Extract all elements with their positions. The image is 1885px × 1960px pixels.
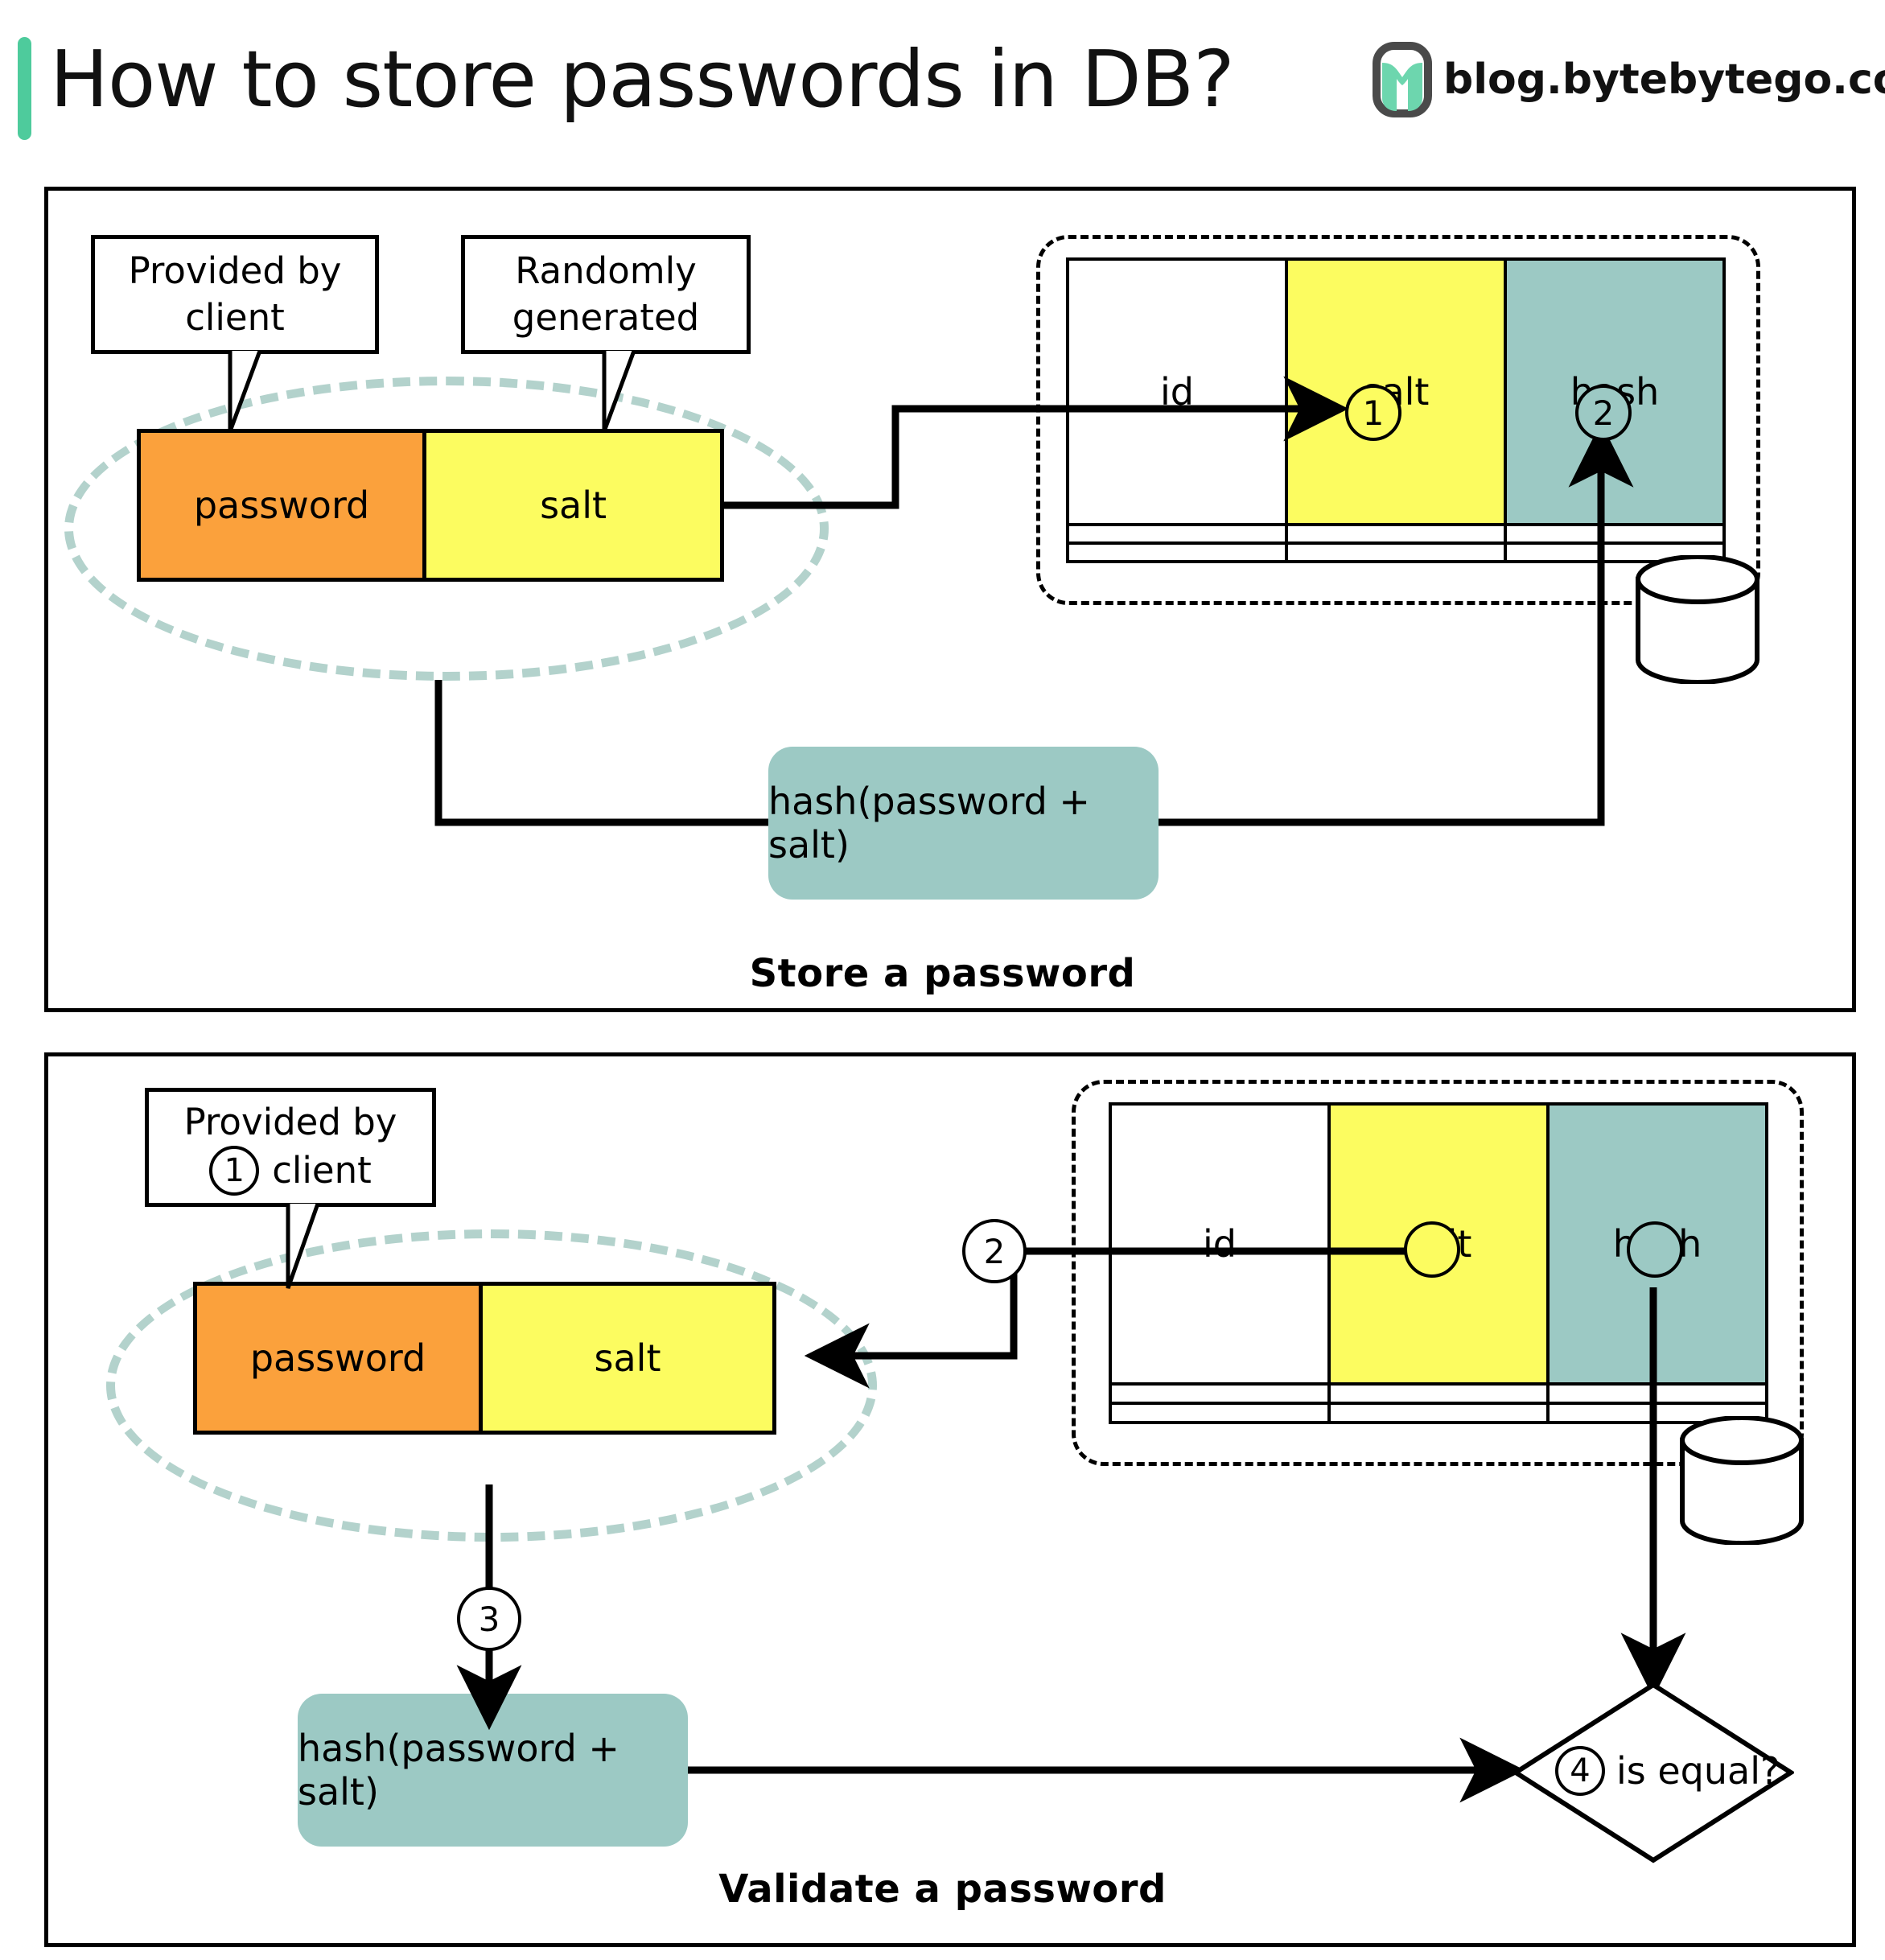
salt-cell: salt bbox=[422, 433, 720, 578]
table-row bbox=[1068, 525, 1724, 543]
callout-randomly-generated: Randomly generated bbox=[461, 235, 751, 354]
table-header-row: id salt hash bbox=[1068, 259, 1724, 525]
callout-provided-by-client: Provided by client bbox=[91, 235, 379, 354]
step-marker-2-validate: 2 bbox=[962, 1219, 1027, 1283]
salt-cell: salt bbox=[479, 1286, 772, 1431]
step-badge-4: 4 bbox=[1555, 1746, 1605, 1796]
decision-question: is equal? bbox=[1616, 1749, 1780, 1793]
decision-label: 4 is equal? bbox=[1555, 1746, 1780, 1796]
cell-hash bbox=[1505, 525, 1724, 543]
cell-salt bbox=[1286, 543, 1505, 562]
table-header-id: id bbox=[1068, 259, 1286, 525]
table-row bbox=[1068, 543, 1724, 562]
hash-function-box-store: hash(password + salt) bbox=[768, 747, 1159, 900]
table-row bbox=[1110, 1384, 1767, 1403]
cell-id bbox=[1068, 525, 1286, 543]
cell-salt bbox=[1329, 1384, 1548, 1403]
step-badge-1: 1 bbox=[209, 1146, 259, 1196]
password-salt-bar-validate: password salt bbox=[193, 1282, 776, 1435]
cell-id bbox=[1110, 1403, 1329, 1423]
bytebytego-logo-icon bbox=[1373, 42, 1432, 117]
table-row bbox=[1110, 1403, 1767, 1423]
step-marker-1-salt: 1 bbox=[1345, 385, 1401, 441]
page-title: How to store passwords in DB? bbox=[50, 27, 1234, 132]
cell-salt bbox=[1329, 1403, 1548, 1423]
accent-bar bbox=[18, 37, 31, 140]
cell-id bbox=[1110, 1384, 1329, 1403]
step-marker-2-hash: 2 bbox=[1575, 385, 1632, 441]
diagram-page: How to store passwords in DB? blog.byteb… bbox=[0, 0, 1885, 1960]
callout-text: Provided by 1 client bbox=[184, 1099, 397, 1196]
db-cylinder-validate bbox=[1677, 1416, 1806, 1545]
table-header-id: id bbox=[1110, 1104, 1329, 1384]
db-cylinder-store bbox=[1633, 555, 1762, 684]
callout-text: Provided by client bbox=[129, 248, 342, 341]
brand: blog.bytebytego.com bbox=[1373, 42, 1885, 117]
table-header-salt: salt bbox=[1286, 259, 1505, 525]
salt-value-dot bbox=[1404, 1221, 1460, 1278]
callout-provided-by-client-validate: Provided by 1 client bbox=[145, 1088, 436, 1207]
step-marker-3-validate: 3 bbox=[457, 1587, 521, 1651]
cell-id bbox=[1068, 543, 1286, 562]
brand-text: blog.bytebytego.com bbox=[1443, 56, 1885, 104]
cell-hash bbox=[1548, 1384, 1767, 1403]
callout-text: Randomly generated bbox=[512, 248, 699, 341]
store-panel-caption: Store a password bbox=[0, 951, 1885, 996]
password-cell: password bbox=[197, 1286, 479, 1431]
cell-salt bbox=[1286, 525, 1505, 543]
validate-panel-caption: Validate a password bbox=[0, 1867, 1885, 1912]
hash-function-box-validate: hash(password + salt) bbox=[298, 1694, 688, 1847]
password-cell: password bbox=[141, 433, 422, 578]
hash-value-dot bbox=[1627, 1221, 1683, 1278]
page-header: How to store passwords in DB? blog.byteb… bbox=[0, 0, 1885, 161]
callout-line2: client bbox=[272, 1147, 372, 1194]
password-salt-bar-store: password salt bbox=[137, 429, 724, 582]
